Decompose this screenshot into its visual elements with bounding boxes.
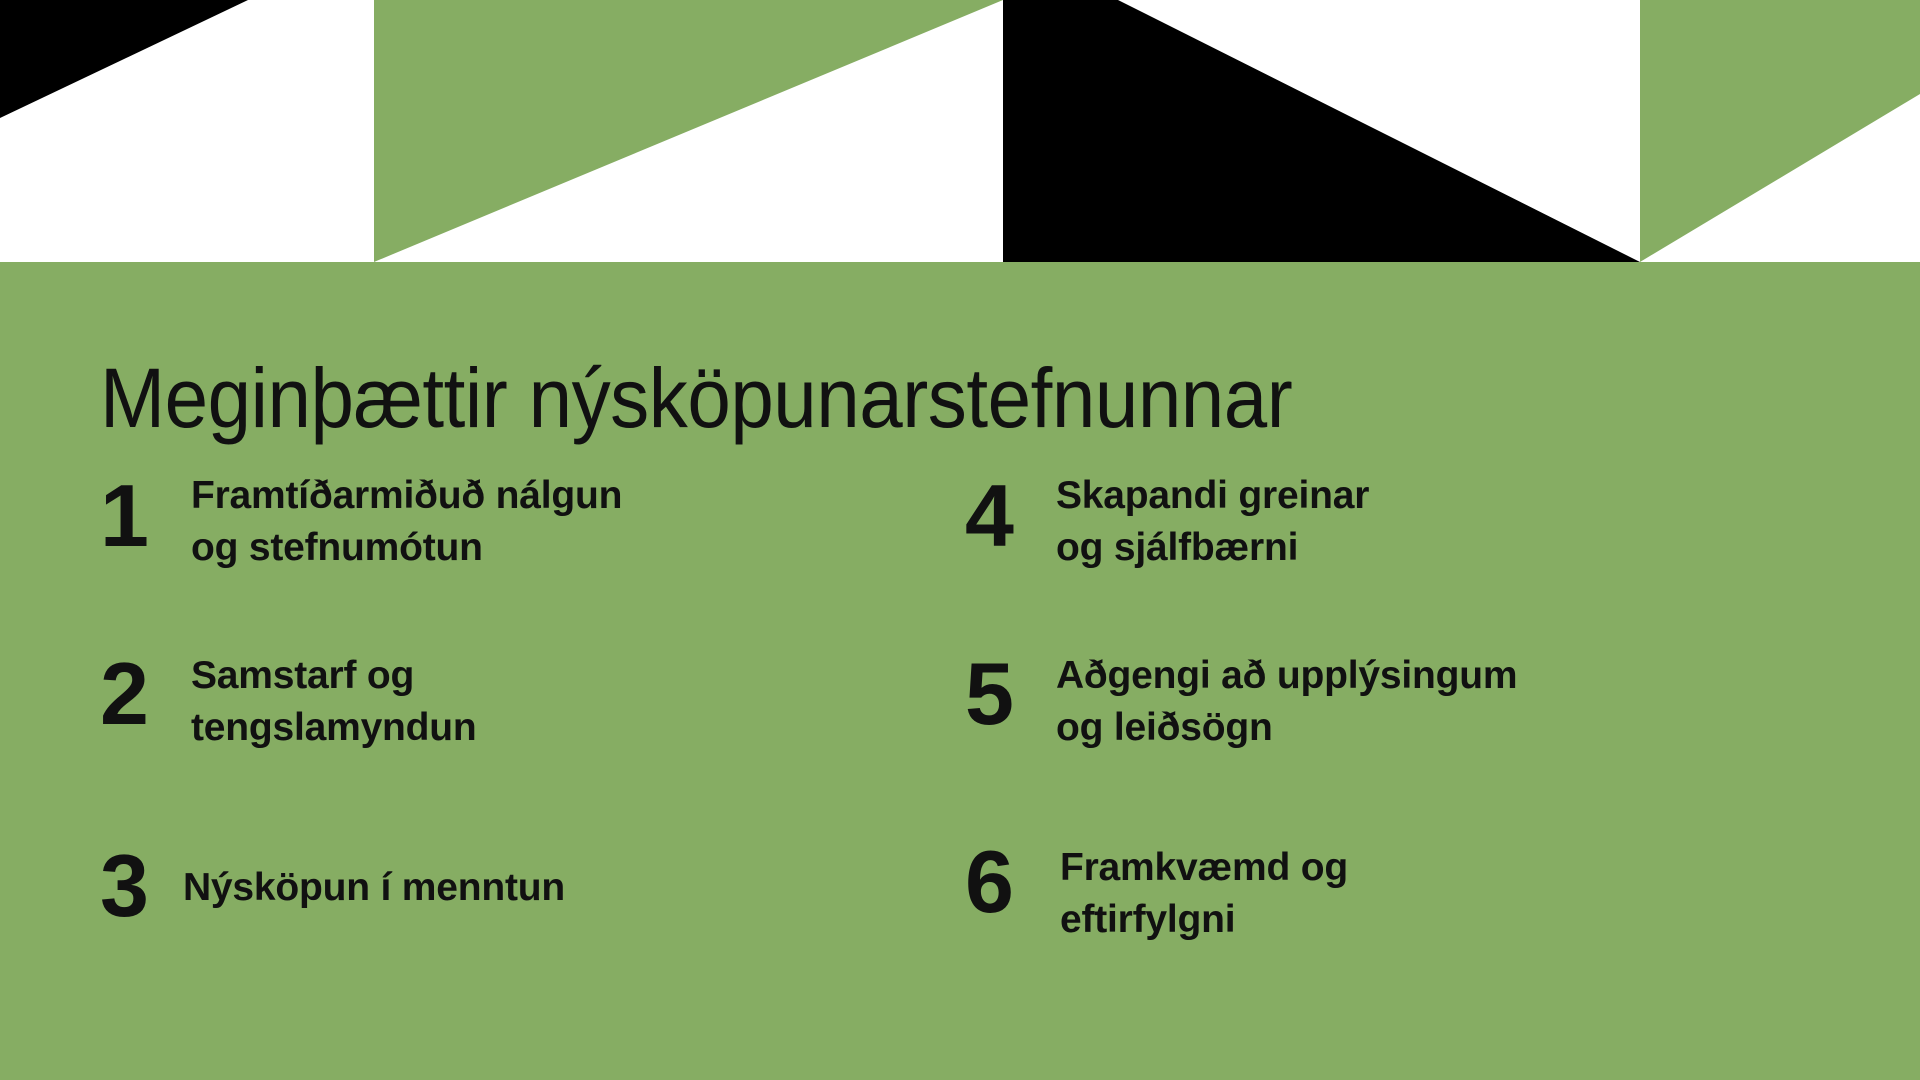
list-item-number: 3 (100, 846, 147, 926)
list-item: 4 Skapandi greinar og sjálfbærni (965, 470, 1369, 574)
list-item-number: 1 (100, 476, 147, 556)
list-item: 1 Framtíðarmiðuð nálgun og stefnumótun (100, 470, 622, 574)
list-item-number: 6 (965, 842, 1012, 922)
list-item-label: Framtíðarmiðuð nálgun og stefnumótun (191, 470, 622, 574)
banner-background (0, 0, 1920, 268)
list-item: 2 Samstarf og tengslamyndun (100, 650, 477, 754)
list-item-label: Skapandi greinar og sjálfbærni (1056, 470, 1369, 574)
list-item-number: 4 (965, 476, 1012, 556)
list-item-label: Framkvæmd og eftirfylgni (1060, 842, 1348, 946)
list-item: 6 Framkvæmd og eftirfylgni (965, 838, 1348, 946)
decorative-geometric-banner (0, 0, 1920, 268)
key-elements-list: 1 Framtíðarmiðuð nálgun og stefnumótun 2… (0, 470, 1920, 970)
list-item-number: 5 (965, 654, 1012, 734)
page-title: Meginþættir nýsköpunarstefnunnar (100, 352, 1737, 444)
list-item: 5 Aðgengi að upplýsingum og leiðsögn (965, 650, 1517, 754)
list-item-label: Aðgengi að upplýsingum og leiðsögn (1056, 650, 1517, 754)
list-item-label: Nýsköpun í menntun (183, 862, 565, 914)
list-item-label: Samstarf og tengslamyndun (191, 650, 477, 754)
slide-root: Meginþættir nýsköpunarstefnunnar 1 Framt… (0, 0, 1920, 1080)
list-item-number: 2 (100, 654, 147, 734)
list-item: 3 Nýsköpun í menntun (100, 838, 565, 926)
